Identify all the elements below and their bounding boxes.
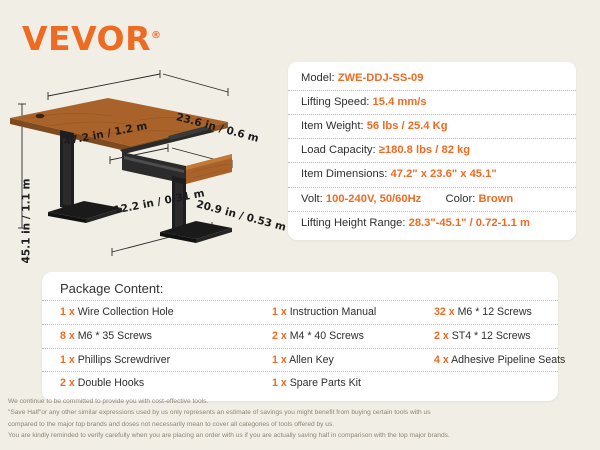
package-item: 1 x Allen Key <box>254 349 416 372</box>
package-item-empty <box>416 372 558 395</box>
spec-label-color: Color: <box>446 193 476 205</box>
package-item-qty: 2 x <box>434 330 449 342</box>
spec-row-item-dimensions: Item Dimensions: 47.2" x 23.6" x 45.1" <box>288 163 576 187</box>
package-item-name: Spare Parts Kit <box>290 377 361 389</box>
package-item: 1 x Phillips Screwdriver <box>42 349 254 372</box>
package-row: 1 x Wire Collection Hole 1 x Instruction… <box>42 301 558 325</box>
package-item-qty: 8 x <box>60 330 75 342</box>
package-item: 2 x M4 * 40 Screws <box>254 325 416 348</box>
package-item: 2 x Double Hooks <box>42 372 254 395</box>
package-item-qty: 2 x <box>60 377 75 389</box>
spec-row-item-weight: Item Weight: 56 lbs / 25.4 Kg <box>288 115 576 139</box>
spec-label: Lifting Height Range: <box>301 217 405 229</box>
package-item: 1 x Instruction Manual <box>254 301 416 324</box>
package-content-title: Package Content: <box>42 278 558 301</box>
disclaimer-line-2: "Save Half"or any other similar expressi… <box>8 407 596 418</box>
spec-value-color: Brown <box>478 193 513 205</box>
package-item: 4 x Adhesive Pipeline Seats <box>416 349 558 372</box>
spec-value-volt: 100-240V, 50/60Hz <box>326 193 421 205</box>
dimension-label-height: 45.1 in / 1.1 m <box>20 179 32 264</box>
spec-label: Item Weight: <box>301 120 364 132</box>
disclaimer-line-3: compared to the major top brands and dos… <box>8 419 596 430</box>
package-item-name: Adhesive Pipeline Seats <box>451 354 565 366</box>
spec-value: ≥180.8 lbs / 82 kg <box>379 144 470 156</box>
spec-value: 56 lbs / 25.4 Kg <box>367 120 448 132</box>
wire-collection-hole <box>36 114 45 119</box>
disclaimer-line-4: You are kindly reminded to verify carefu… <box>8 430 596 441</box>
spec-label: Load Capacity: <box>301 144 376 156</box>
package-row: 2 x Double Hooks 1 x Spare Parts Kit <box>42 372 558 395</box>
desk-drawing <box>0 60 290 260</box>
package-item-qty: 4 x <box>434 354 449 366</box>
package-item-qty: 1 x <box>272 306 287 318</box>
package-item-name: ST4 * 12 Screws <box>452 330 531 342</box>
spec-row-model: Model: ZWE-DDJ-SS-09 <box>288 67 576 91</box>
spec-row-lifting-height-range: Lifting Height Range: 28.3"-45.1" / 0.72… <box>288 212 576 235</box>
spec-value: 28.3"-45.1" / 0.72-1.1 m <box>409 217 530 229</box>
spec-value: ZWE-DDJ-SS-09 <box>338 72 424 84</box>
package-item: 1 x Wire Collection Hole <box>42 301 254 324</box>
package-item: 1 x Spare Parts Kit <box>254 372 416 395</box>
package-item-qty: 1 x <box>272 377 287 389</box>
package-content-card: Package Content: 1 x Wire Collection Hol… <box>42 272 558 401</box>
package-item-qty: 32 x <box>434 306 455 318</box>
package-item-qty: 1 x <box>272 354 287 366</box>
package-item-name: M6 * 12 Screws <box>458 306 532 318</box>
package-item-name: Double Hooks <box>78 377 145 389</box>
package-row: 1 x Phillips Screwdriver 1 x Allen Key 4… <box>42 349 558 373</box>
brand-name: VEVOR <box>22 19 151 58</box>
package-item-qty: 1 x <box>60 354 75 366</box>
spec-label-volt: Volt: <box>301 193 323 205</box>
package-item-name: M4 * 40 Screws <box>290 330 364 342</box>
package-item: 2 x ST4 * 12 Screws <box>416 325 558 348</box>
spec-row-volt-color: Volt: 100-240V, 50/60Hz Color: Brown <box>288 188 576 212</box>
desk-illustration: 47.2 in / 1.2 m 23.6 in / 0.6 m 45.1 in … <box>0 60 290 260</box>
package-item-qty: 2 x <box>272 330 287 342</box>
package-item-name: Wire Collection Hole <box>78 306 174 318</box>
spec-value: 15.4 mm/s <box>373 96 427 108</box>
spec-label: Lifting Speed: <box>301 96 369 108</box>
spec-row-lifting-speed: Lifting Speed: 15.4 mm/s <box>288 91 576 115</box>
package-item-name: Instruction Manual <box>290 306 377 318</box>
package-item: 8 x M6 * 35 Screws <box>42 325 254 348</box>
vevor-logo: VEVOR® <box>22 22 162 55</box>
package-item-name: Phillips Screwdriver <box>78 354 170 366</box>
package-item-name: M6 * 35 Screws <box>78 330 152 342</box>
spec-value: 47.2" x 23.6" x 45.1" <box>391 168 497 180</box>
package-row: 8 x M6 * 35 Screws 2 x M4 * 40 Screws 2 … <box>42 325 558 349</box>
spec-label: Item Dimensions: <box>301 168 387 180</box>
registered-trademark-icon: ® <box>151 30 162 41</box>
spec-row-load-capacity: Load Capacity: ≥180.8 lbs / 82 kg <box>288 139 576 163</box>
package-item-name: Allen Key <box>289 354 334 366</box>
disclaimer-line-1: We continue to be committed to provide y… <box>8 396 596 407</box>
spec-label: Model: <box>301 72 335 84</box>
package-item: 32 x M6 * 12 Screws <box>416 301 558 324</box>
product-spec-infographic: VEVOR® <box>0 0 600 450</box>
specifications-card: Model: ZWE-DDJ-SS-09 Lifting Speed: 15.4… <box>288 62 576 240</box>
package-item-qty: 1 x <box>60 306 75 318</box>
disclaimer-text: We continue to be committed to provide y… <box>8 396 596 441</box>
